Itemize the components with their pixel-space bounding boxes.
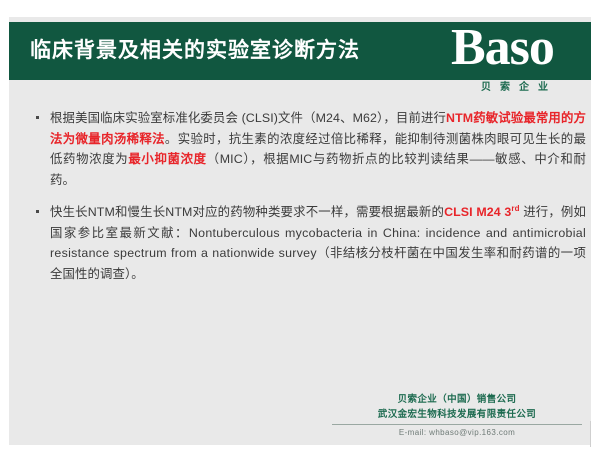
bullet-marker-icon — [36, 116, 39, 119]
brand-wordmark: Baso — [451, 22, 554, 80]
page-title: 临床背景及相关的实验室诊断方法 — [30, 30, 450, 72]
slide-footer: 贝索企业（中国）销售公司 武汉金宏生物科技发展有限责任公司 E-mail: wh… — [332, 392, 582, 439]
footer-email: E-mail: whbaso@vip.163.com — [332, 427, 582, 439]
footer-company-line-1: 贝索企业（中国）销售公司 — [332, 392, 582, 407]
brand-logo: Baso — [443, 22, 591, 80]
slide-root: 临床背景及相关的实验室诊断方法 Baso 贝索企业 根据美国临床实验室标准化委员… — [0, 0, 600, 453]
bullet-1-text: 根据美国临床实验室标准化委员会 (CLSI)文件（M24、M62），目前进行NT… — [50, 108, 586, 190]
footer-divider — [332, 424, 582, 425]
list-item: 根据美国临床实验室标准化委员会 (CLSI)文件（M24、M62），目前进行NT… — [26, 108, 586, 190]
bullet-marker-icon — [36, 210, 39, 213]
footer-company-line-2: 武汉金宏生物科技发展有限责任公司 — [332, 407, 582, 422]
brand-subtitle: 贝索企业 — [447, 80, 591, 96]
slide-edge-mark — [590, 421, 591, 447]
list-item: 快生长NTM和慢生长NTM对应的药物种类要求不一样，需要根据最新的CLSI M2… — [26, 202, 586, 284]
bullet-2-text: 快生长NTM和慢生长NTM对应的药物种类要求不一样，需要根据最新的CLSI M2… — [50, 202, 586, 284]
slide-body: 根据美国临床实验室标准化委员会 (CLSI)文件（M24、M62），目前进行NT… — [26, 108, 586, 296]
